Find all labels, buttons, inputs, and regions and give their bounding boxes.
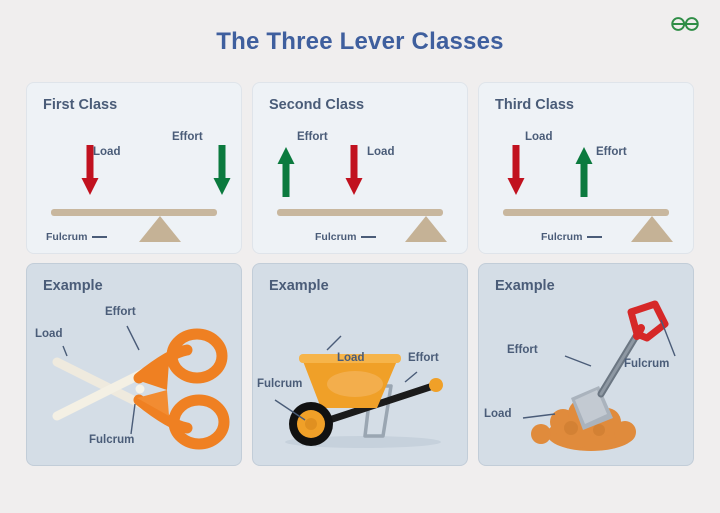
card-example-scissors: Example xyxy=(26,263,242,466)
example-label-effort: Effort xyxy=(408,352,439,364)
illustration-shovel: Effort Fulcrum Load xyxy=(479,294,693,465)
card-example-shovel: Example xyxy=(478,263,694,466)
fulcrum-leader-line xyxy=(361,236,376,238)
arrow-label-effort: Effort xyxy=(172,131,203,143)
infographic-page: The Three Lever Classes First Class Load… xyxy=(0,0,720,513)
column-first-class: First Class Load Effort Fulcrum xyxy=(26,82,242,466)
arrow-label-load: Load xyxy=(367,146,394,158)
fulcrum-label: Fulcrum xyxy=(541,231,602,243)
example-label-load: Load xyxy=(337,352,364,364)
fulcrum-label-text: Fulcrum xyxy=(46,231,87,243)
fulcrum-triangle-icon xyxy=(631,216,673,242)
lever-diagram-third-class: Load Effort Fulcrum xyxy=(479,119,693,253)
effort-arrow-up-icon xyxy=(575,145,593,197)
example-label-effort: Effort xyxy=(105,306,136,318)
fulcrum-triangle-icon xyxy=(139,216,181,242)
fulcrum-label-text: Fulcrum xyxy=(541,231,582,243)
column-second-class: Second Class Effort Load Fulcrum xyxy=(252,82,468,466)
illustration-scissors: Load Effort Fulcrum xyxy=(27,294,241,465)
example-label-fulcrum: Fulcrum xyxy=(257,378,302,390)
example-label-load: Load xyxy=(35,328,62,340)
illustration-wheelbarrow: Fulcrum Load Effort xyxy=(253,294,467,465)
example-label-fulcrum: Fulcrum xyxy=(89,434,134,446)
card-second-class: Second Class Effort Load Fulcrum xyxy=(252,82,468,254)
card-first-class: First Class Load Effort Fulcrum xyxy=(26,82,242,254)
card-heading-example-3: Example xyxy=(495,278,555,294)
arrow-label-load: Load xyxy=(525,131,552,143)
card-heading-example-2: Example xyxy=(269,278,329,294)
lever-diagram-second-class: Effort Load Fulcrum xyxy=(253,119,467,253)
fulcrum-leader-line xyxy=(587,236,602,238)
lever-classes-grid: First Class Load Effort Fulcrum xyxy=(26,82,694,466)
lever-bar xyxy=(51,209,217,216)
card-heading-example-1: Example xyxy=(43,278,103,294)
example-label-fulcrum: Fulcrum xyxy=(624,358,669,370)
effort-arrow-down-icon xyxy=(213,145,231,197)
arrow-label-effort: Effort xyxy=(297,131,328,143)
fulcrum-leader-line xyxy=(92,236,107,238)
effort-arrow-up-icon xyxy=(277,145,295,197)
load-arrow-down-icon xyxy=(345,145,363,197)
card-heading-first-class: First Class xyxy=(43,97,117,113)
fulcrum-label: Fulcrum xyxy=(46,231,107,243)
example-label-load: Load xyxy=(484,408,511,420)
card-example-wheelbarrow: Example xyxy=(252,263,468,466)
card-heading-second-class: Second Class xyxy=(269,97,364,113)
lever-diagram-first-class: Load Effort Fulcrum xyxy=(27,119,241,253)
fulcrum-label: Fulcrum xyxy=(315,231,376,243)
card-third-class: Third Class Load Effort Fulcrum xyxy=(478,82,694,254)
load-arrow-down-icon xyxy=(507,145,525,197)
lever-bar xyxy=(503,209,669,216)
card-heading-third-class: Third Class xyxy=(495,97,574,113)
arrow-label-effort: Effort xyxy=(596,146,627,158)
example-label-effort: Effort xyxy=(507,344,538,356)
page-title: The Three Lever Classes xyxy=(0,28,720,56)
load-arrow-down-icon xyxy=(81,145,99,197)
fulcrum-triangle-icon xyxy=(405,216,447,242)
fulcrum-label-text: Fulcrum xyxy=(315,231,356,243)
lever-bar xyxy=(277,209,443,216)
column-third-class: Third Class Load Effort Fulcrum xyxy=(478,82,694,466)
